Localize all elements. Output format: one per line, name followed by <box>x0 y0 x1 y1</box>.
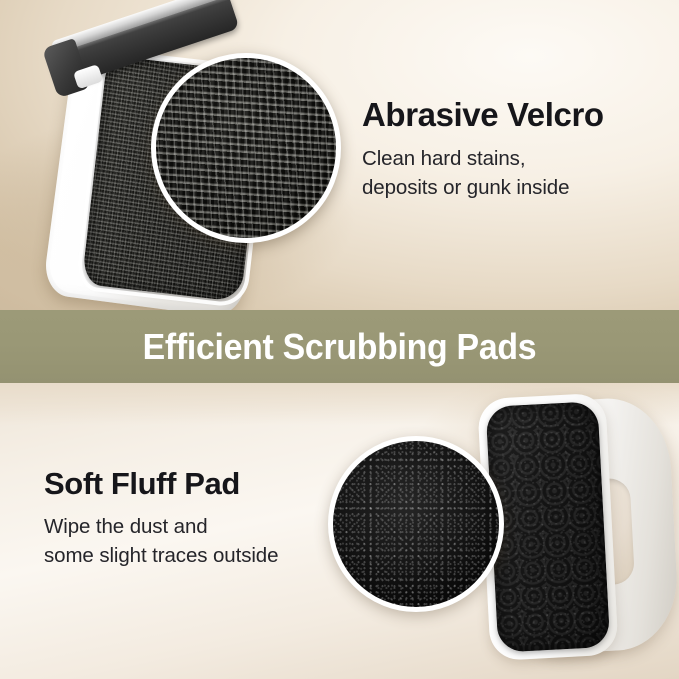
banner-efficient-scrubbing-pads: Efficient Scrubbing Pads <box>0 310 679 383</box>
section-abrasive-velcro: Abrasive Velcro Clean hard stains, depos… <box>0 0 679 311</box>
text-block-abrasive-velcro: Abrasive Velcro Clean hard stains, depos… <box>362 96 662 202</box>
subtext-line-1: Wipe the dust and <box>44 515 208 538</box>
text-block-soft-fluff-pad: Soft Fluff Pad Wipe the dust and some sl… <box>44 466 364 570</box>
subtext-abrasive-velcro: Clean hard stains, deposits or gunk insi… <box>362 144 662 202</box>
product-infographic: Abrasive Velcro Clean hard stains, depos… <box>0 0 679 679</box>
subtext-line-1: Clean hard stains, <box>362 147 525 170</box>
velcro-texture-closeup-circle <box>151 53 341 243</box>
heading-abrasive-velcro: Abrasive Velcro <box>362 96 662 134</box>
subtext-soft-fluff-pad: Wipe the dust and some slight traces out… <box>44 512 364 570</box>
fluff-pad <box>486 401 611 653</box>
heading-soft-fluff-pad: Soft Fluff Pad <box>44 466 364 502</box>
subtext-line-2: deposits or gunk inside <box>362 176 569 199</box>
banner-title: Efficient Scrubbing Pads <box>143 326 537 368</box>
subtext-line-2: some slight traces outside <box>44 544 278 567</box>
